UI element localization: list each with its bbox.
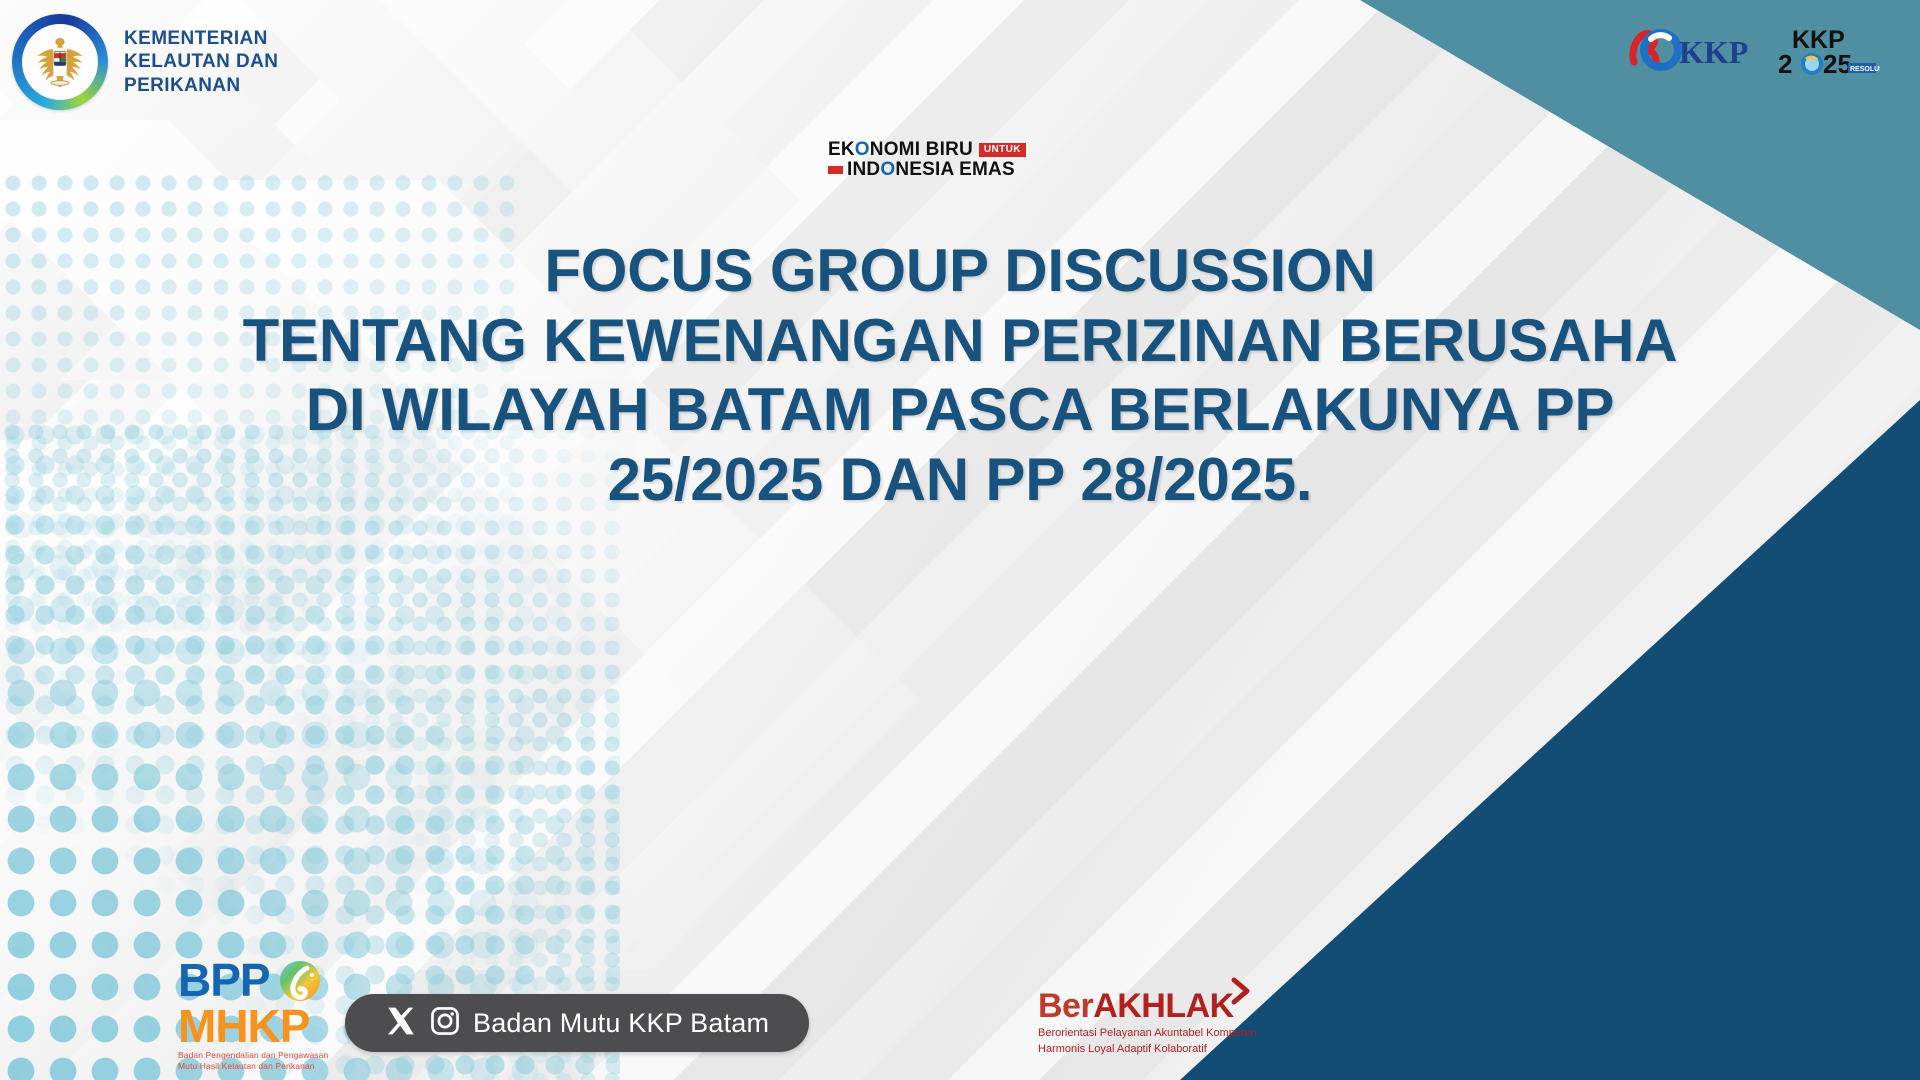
bpp-subtitle-line2: Mutu Hasil Kelautan dan Perikanan [178, 1061, 328, 1072]
svg-text:25: 25 [1823, 49, 1852, 77]
tagline-line1-o: O [855, 140, 870, 159]
bpp-logo-row: BPP [178, 957, 324, 1005]
kkp-2025-logo: KKP 2 25 RESOLUSI [1776, 23, 1880, 77]
tagline-line-2: IND O NESIA EMAS [828, 160, 1026, 179]
berakhlak-subtitle-line1: Berorientasi Pelayanan Akuntabel Kompete… [1038, 1026, 1256, 1042]
bpp-subtitle-line1: Badan Pengendalian dan Pengawasan [178, 1050, 328, 1061]
title-line-1: FOCUS GROUP DISCUSSION [60, 236, 1860, 306]
kkp-anniversary-logo: KKP [1624, 22, 1754, 78]
tagline-line2-part2: NESIA EMAS [895, 160, 1015, 179]
berakhlak-subtitle-line2: Harmonis Loyal Adaptif Kolaboratif [1038, 1042, 1256, 1058]
tagline-line2-o: O [880, 160, 895, 179]
bpp-subtitle: Badan Pengendalian dan Pengawasan Mutu H… [178, 1050, 328, 1072]
title-line-3: DI WILAYAH BATAM PASCA BERLAKUNYA PP [60, 375, 1860, 445]
ministry-name-line2: KELAUTAN DAN [124, 50, 278, 73]
berakhlak-akhlak: AKHLAK [1093, 989, 1234, 1023]
berakhlak-subtitle: Berorientasi Pelayanan Akuntabel Kompete… [1038, 1026, 1256, 1058]
x-twitter-icon[interactable] [385, 1005, 417, 1042]
ministry-name-line1: KEMENTERIAN [124, 27, 278, 50]
title-line-4: 25/2025 DAN PP 28/2025. [60, 445, 1860, 515]
slide-canvas: KEMENTERIAN KELAUTAN DAN PERIKANAN KKP K… [0, 0, 1920, 1080]
svg-text:KKP: KKP [1679, 34, 1748, 70]
bpp-text: BPP [178, 959, 270, 1001]
ministry-name: KEMENTERIAN KELAUTAN DAN PERIKANAN [124, 27, 278, 97]
tagline-red-bar [828, 166, 843, 174]
tagline-untuk-badge: UNTUK [979, 143, 1026, 157]
mhkp-text: MHKP [178, 1005, 309, 1047]
tagline-line1-part2: NOMI BIRU [870, 140, 973, 159]
instagram-icon[interactable] [429, 1005, 461, 1042]
kkp-logo-group: KKP KKP 2 25 RESOLUSI [1624, 22, 1880, 78]
bpp-mhkp-logo: BPP MHKP [178, 957, 328, 1072]
berakhlak-ber: Ber [1038, 989, 1093, 1023]
tagline-line2-part1: IND [847, 160, 880, 179]
garuda-emblem-icon [12, 14, 108, 110]
social-handle-pill[interactable]: Badan Mutu KKP Batam [345, 994, 809, 1052]
ministry-logo: KEMENTERIAN KELAUTAN DAN PERIKANAN [12, 14, 278, 110]
ministry-name-line3: PERIKANAN [124, 74, 278, 97]
tagline-line1-part1: EK [828, 140, 855, 159]
ekonomi-biru-tagline: EK O NOMI BIRU UNTUK IND O NESIA EMAS [828, 140, 1026, 179]
title-line-2: TENTANG KEWENANGAN PERIZINAN BERUSAHA [60, 306, 1860, 376]
berakhlak-wordmark: Ber AKHLAK [1038, 989, 1256, 1023]
social-handle-text: Badan Mutu KKP Batam [473, 1008, 769, 1039]
svg-text:2: 2 [1778, 49, 1792, 77]
tagline-line-1: EK O NOMI BIRU UNTUK [828, 140, 1026, 159]
svg-text:RESOLUSI: RESOLUSI [1850, 66, 1880, 73]
berakhlak-chevron-icon [1228, 977, 1254, 1012]
bpp-fish-icon [276, 957, 324, 1005]
slide-title: FOCUS GROUP DISCUSSION TENTANG KEWENANGA… [0, 236, 1920, 514]
berakhlak-logo: Ber AKHLAK Berorientasi Pelayanan Akunta… [1038, 989, 1256, 1058]
